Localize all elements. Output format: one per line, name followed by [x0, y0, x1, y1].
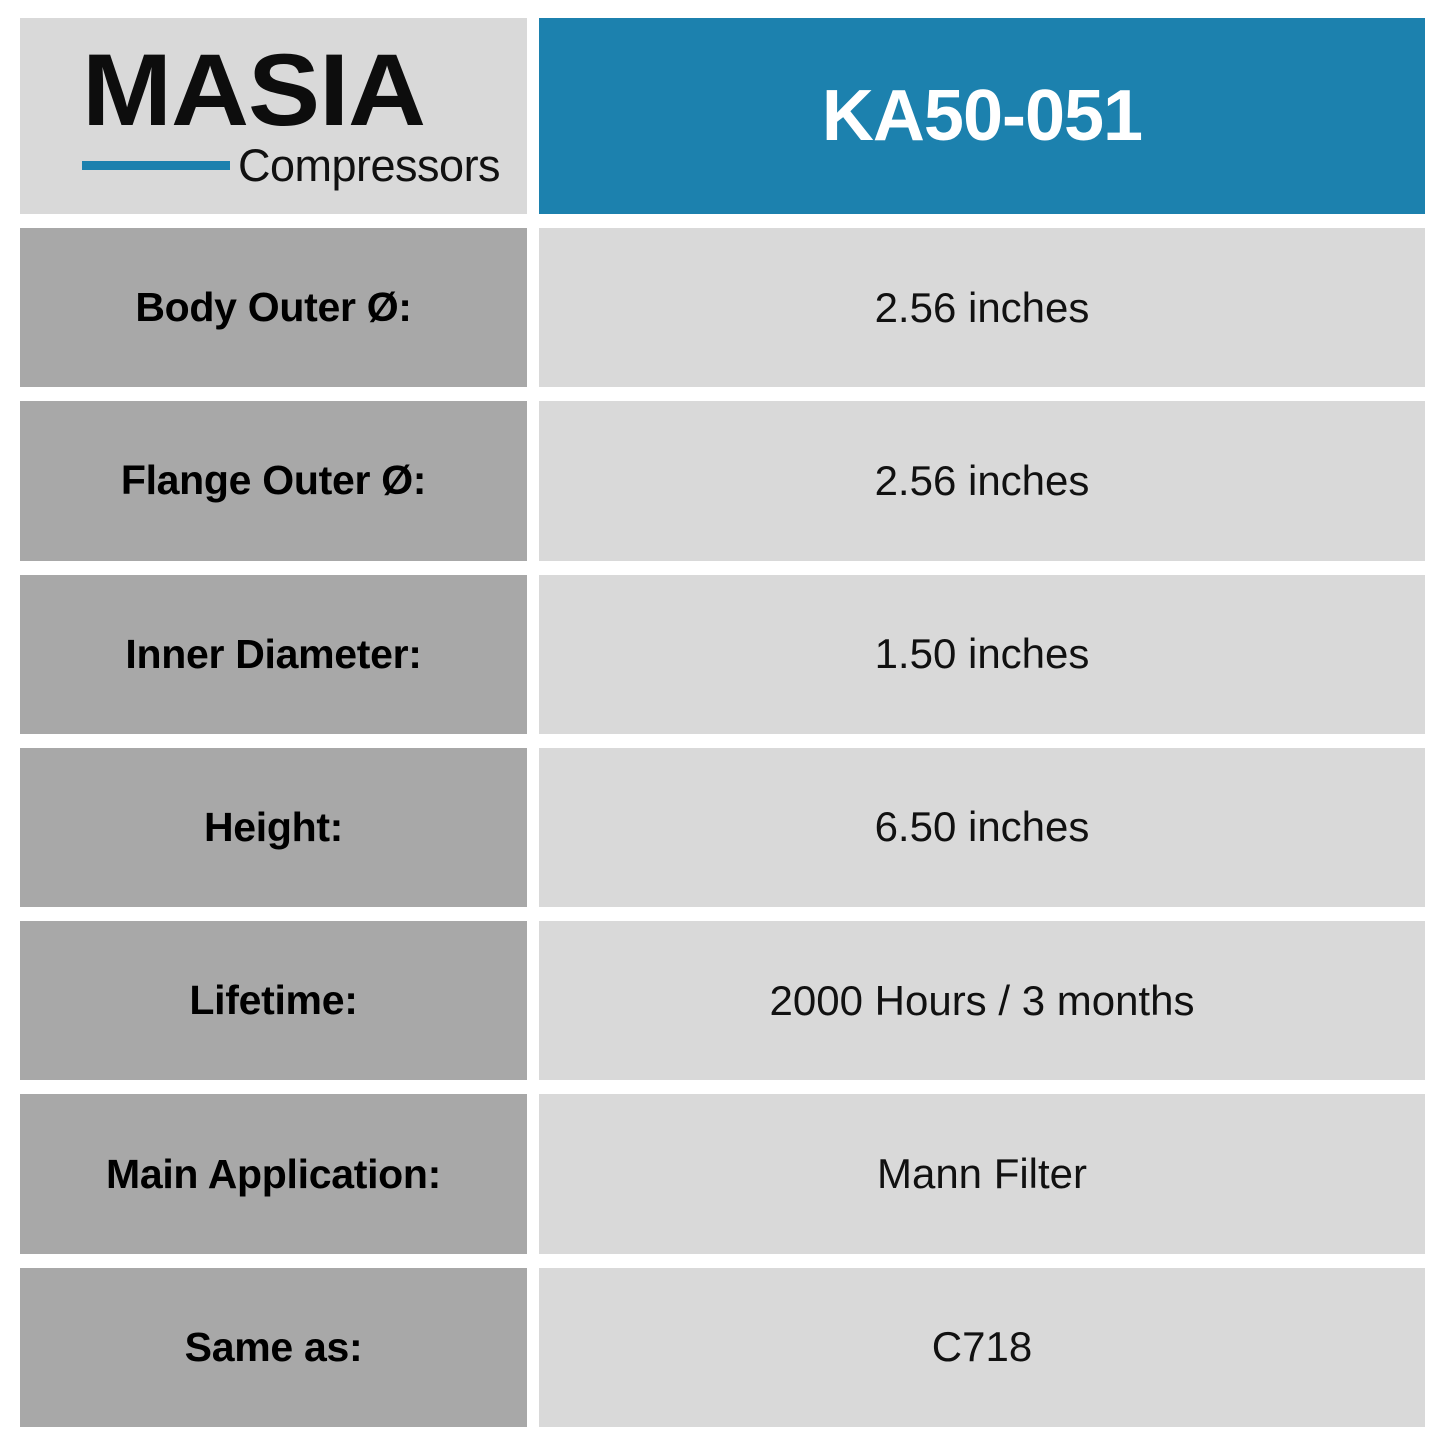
spec-value-cell: 2.56 inches — [539, 401, 1425, 560]
spec-value: 2.56 inches — [875, 286, 1090, 330]
part-number-banner: KA50-051 — [539, 18, 1425, 214]
spec-label-cell: Main Application: — [20, 1094, 527, 1253]
spec-value: 6.50 inches — [875, 805, 1090, 849]
spec-label: Main Application: — [106, 1153, 441, 1196]
spec-value: 1.50 inches — [875, 632, 1090, 676]
spec-label: Inner Diameter: — [125, 633, 421, 676]
spec-label-cell: Height: — [20, 748, 527, 907]
spec-row-lifetime: Lifetime: 2000 Hours / 3 months — [20, 921, 1425, 1080]
spec-value-cell: Mann Filter — [539, 1094, 1425, 1253]
spec-row-body-outer-diameter: Body Outer Ø: 2.56 inches — [20, 228, 1425, 387]
brand-rule-icon — [82, 161, 230, 170]
spec-value-cell: 2.56 inches — [539, 228, 1425, 387]
spec-value: Mann Filter — [877, 1152, 1087, 1196]
spec-value: 2.56 inches — [875, 459, 1090, 503]
spec-value: C718 — [932, 1325, 1032, 1369]
spec-row-inner-diameter: Inner Diameter: 1.50 inches — [20, 575, 1425, 734]
spec-label: Body Outer Ø: — [135, 286, 411, 329]
spec-value: 2000 Hours / 3 months — [770, 979, 1195, 1023]
header-row: MASIA Compressors KA50-051 — [20, 18, 1425, 214]
part-number-title: KA50-051 — [822, 80, 1142, 152]
spec-label: Same as: — [185, 1326, 363, 1369]
spec-row-flange-outer-diameter: Flange Outer Ø: 2.56 inches — [20, 401, 1425, 560]
brand-tagline: Compressors — [238, 143, 500, 188]
spec-value-cell: 6.50 inches — [539, 748, 1425, 907]
spec-label-cell: Inner Diameter: — [20, 575, 527, 734]
spec-label: Height: — [204, 806, 343, 849]
spec-row-height: Height: 6.50 inches — [20, 748, 1425, 907]
spec-value-cell: C718 — [539, 1268, 1425, 1427]
spec-label: Lifetime: — [189, 979, 357, 1022]
spec-label-cell: Body Outer Ø: — [20, 228, 527, 387]
brand-tagline-group: Compressors — [82, 143, 507, 188]
spec-label-cell: Same as: — [20, 1268, 527, 1427]
product-spec-sheet: MASIA Compressors KA50-051 Body Outer Ø:… — [0, 0, 1445, 1445]
brand-logo: MASIA Compressors — [20, 18, 527, 214]
spec-value-cell: 1.50 inches — [539, 575, 1425, 734]
spec-label-cell: Flange Outer Ø: — [20, 401, 527, 560]
spec-row-same-as: Same as: C718 — [20, 1268, 1425, 1427]
spec-label-cell: Lifetime: — [20, 921, 527, 1080]
spec-value-cell: 2000 Hours / 3 months — [539, 921, 1425, 1080]
brand-wordmark: MASIA — [82, 44, 533, 138]
spec-label: Flange Outer Ø: — [121, 459, 426, 502]
spec-row-main-application: Main Application: Mann Filter — [20, 1094, 1425, 1253]
